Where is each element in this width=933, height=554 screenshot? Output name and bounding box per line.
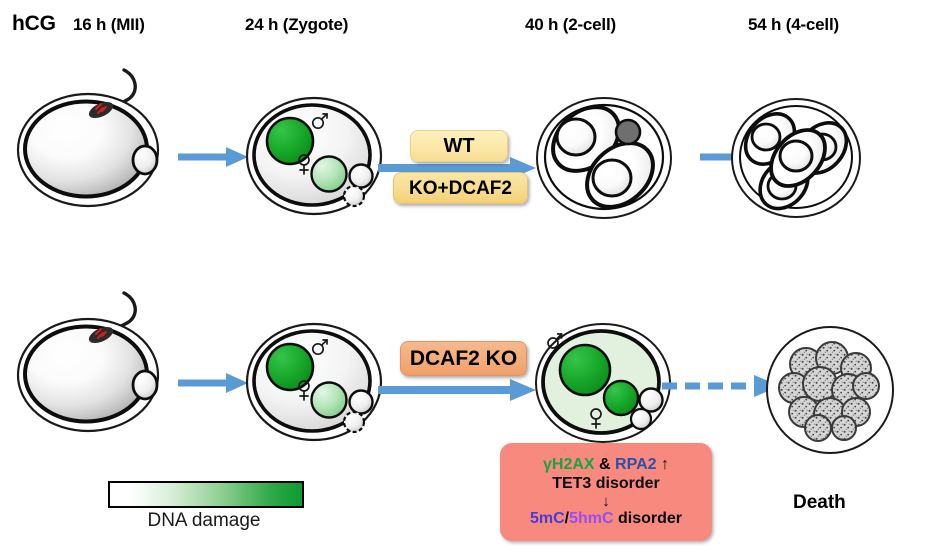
dead-embryo [752, 318, 912, 483]
dna-damage-gradient-bar [108, 481, 304, 508]
condition-pill-dcaf2-ko[interactable]: DCAF2 KO [400, 341, 527, 376]
5hmc-label: 5hmC [569, 510, 613, 527]
polar-body [133, 146, 157, 174]
gamma-h2ax-label: γH2AX [543, 456, 595, 473]
annotation-line-4: 5mC/5hmC disorder [530, 510, 682, 528]
condition-pill-ko-plus-dcaf2[interactable]: KO+DCAF2 [393, 172, 528, 204]
up-arrow-glyph: ↑ [657, 456, 669, 473]
ampersand-label: & [595, 456, 615, 473]
condition-pill-wt[interactable]: WT [410, 130, 508, 162]
rpa2-label: RPA2 [615, 456, 657, 473]
timepoint-label-24h: 24 h (Zygote) [245, 15, 348, 35]
arrow-zygote-to-arrested-ko [378, 377, 538, 403]
down-arrow-glyph: ↓ [602, 494, 610, 509]
annotation-line-2: TET3 disorder [552, 475, 660, 493]
polar-body [133, 371, 157, 399]
four-cell-embryo-wt [716, 92, 881, 224]
5mc-label: 5mC [530, 510, 565, 527]
dna-damage-legend-label: DNA damage [108, 510, 300, 532]
disorder-label: disorder [614, 510, 682, 527]
timepoint-label-54h: 54 h (4-cell) [748, 15, 839, 35]
death-outcome-label: Death [793, 492, 846, 514]
mii-oocyte-wt [10, 60, 210, 210]
annotation-line-1: γH2AX & RPA2 ↑ [543, 456, 669, 474]
figure-canvas: hCG 16 h (MII) 24 h (Zygote) 40 h (2-cel… [0, 0, 933, 554]
two-cell-embryo-wt [520, 92, 690, 224]
polar-body [616, 120, 640, 144]
hcg-axis-label: hCG [12, 12, 56, 36]
timepoint-label-40h: 40 h (2-cell) [525, 15, 616, 35]
dna-damage-legend: DNA damage [108, 481, 304, 532]
ko-phenotype-annotation: γH2AX & RPA2 ↑ TET3 disorder ↓ 5mC/5hmC … [500, 443, 712, 541]
timepoint-label-16h: 16 h (MII) [73, 15, 145, 35]
mii-oocyte-ko [10, 285, 210, 440]
